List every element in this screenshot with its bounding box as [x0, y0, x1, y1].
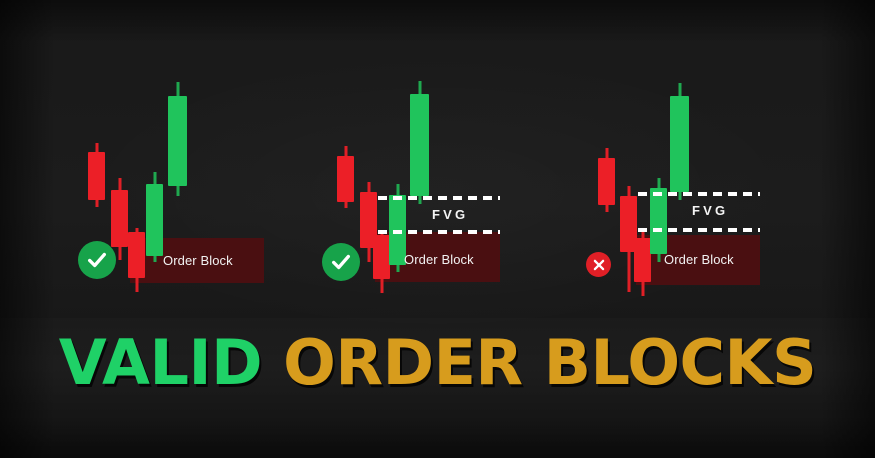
- infographic-canvas: Order BlockFVGOrder BlockFVGOrder Block …: [0, 0, 875, 458]
- candle-1-bearish: [598, 148, 615, 212]
- title-separator: [262, 326, 283, 399]
- title-word-valid: VALID: [59, 326, 262, 399]
- fvg-upper-boundary-line: [638, 192, 760, 196]
- fvg-lower-boundary-line: [638, 228, 760, 232]
- candle-body: [598, 158, 615, 205]
- candle-3-bearish: [634, 232, 651, 296]
- candle-body: [670, 96, 689, 192]
- candle-body: [634, 238, 651, 282]
- order-block-label: Order Block: [664, 252, 734, 267]
- candle-5-bullish: [670, 83, 689, 200]
- title-word-order-blocks: ORDER BLOCKS: [283, 326, 816, 399]
- panel-3: FVGOrder Block: [0, 0, 875, 320]
- page-title: VALID ORDER BLOCKS: [0, 332, 875, 394]
- fvg-label: FVG: [692, 203, 728, 218]
- candle-body: [650, 188, 667, 254]
- candle-4-bullish: [650, 178, 667, 262]
- invalid-status-badge: [586, 252, 611, 277]
- x-icon: [592, 258, 606, 272]
